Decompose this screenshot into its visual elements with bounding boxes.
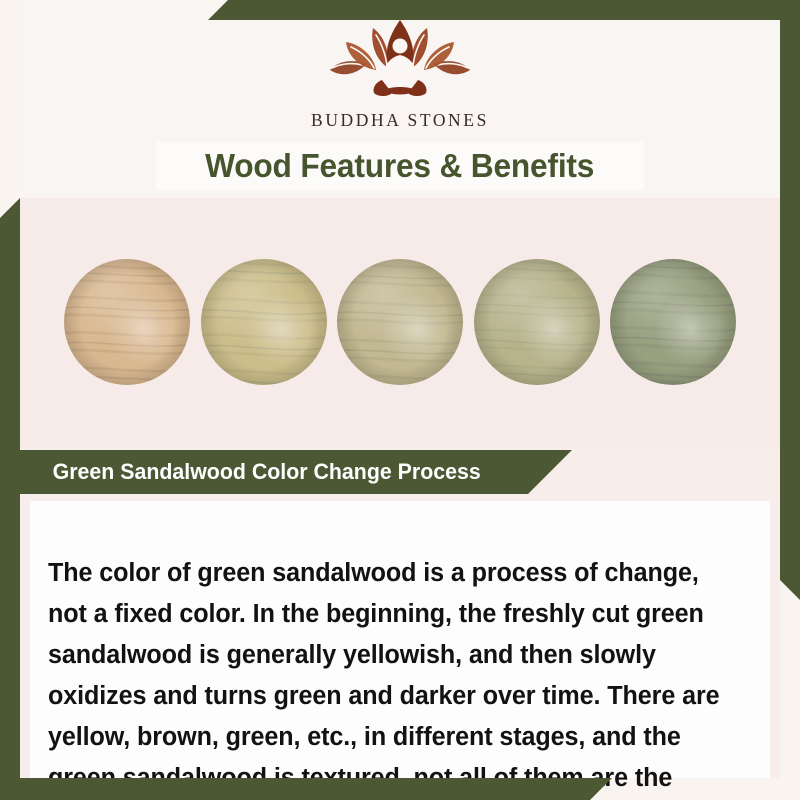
description-card: The color of green sandalwood is a proce… [30,501,770,778]
page-title-plate: Wood Features & Benefits [156,142,644,190]
bead-stage-3 [337,259,463,385]
description-paragraph: The color of green sandalwood is a proce… [48,553,738,800]
poster-canvas: BUDDHA STONES Wood Features & Benefits [0,0,800,800]
bead-gloss [610,259,736,385]
bead-stage-4 [474,259,600,385]
bead-gloss [337,259,463,385]
frame-band-bottom [0,778,612,800]
frame-band-right [780,0,800,600]
page-title: Wood Features & Benefits [205,147,594,185]
bead-gallery [20,252,780,392]
bead-gloss [201,259,327,385]
frame-band-left [0,198,20,800]
brand-logo: BUDDHA STONES [0,18,800,131]
bead-gloss [474,259,600,385]
bead-stage-1 [64,259,190,385]
brand-name: BUDDHA STONES [311,110,489,131]
frame-band-top [208,0,800,20]
bead-stage-2 [201,259,327,385]
bead-gloss [64,259,190,385]
section-banner: Green Sandalwood Color Change Process [20,450,572,494]
lotus-meditation-figure-icon [318,18,482,104]
section-banner-title: Green Sandalwood Color Change Process [53,459,481,485]
bead-stage-5 [610,259,736,385]
